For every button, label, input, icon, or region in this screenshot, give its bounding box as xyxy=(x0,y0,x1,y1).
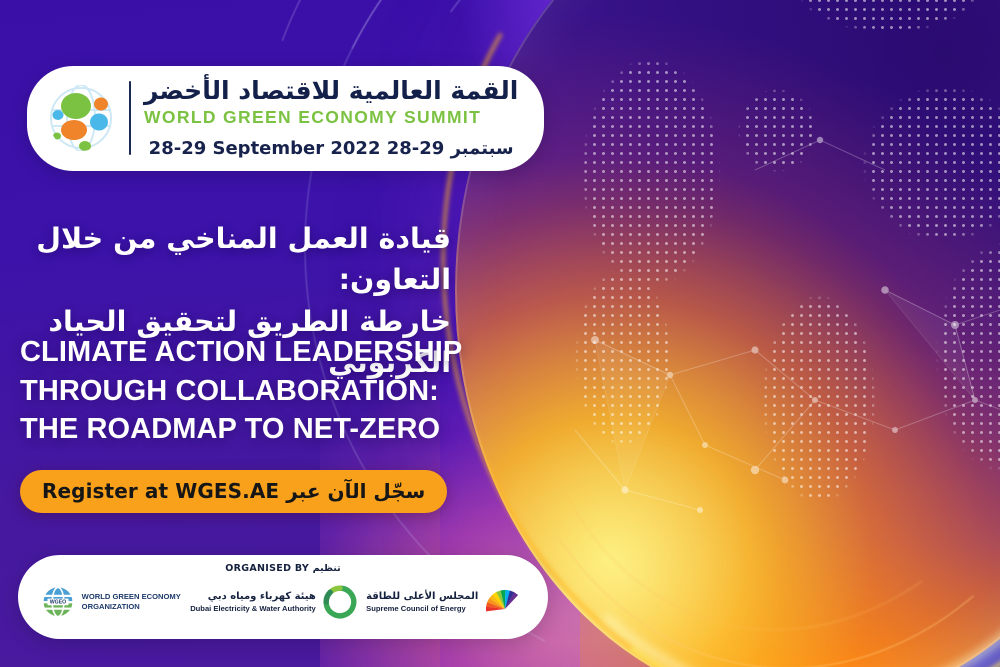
sce-fan-icon xyxy=(485,585,525,619)
logo-text-group: القمة العالمية للاقتصاد الأخضر WORLD GRE… xyxy=(144,77,518,159)
event-logo-badge[interactable]: القمة العالمية للاقتصاد الأخضر WORLD GRE… xyxy=(27,66,544,171)
sponsor-dewa[interactable]: هيئة كهرباء ومياه دبي Dubai Electricity … xyxy=(190,585,357,619)
svg-text:WGEO: WGEO xyxy=(49,600,65,606)
dewa-name-arabic: هيئة كهرباء ومياه دبي xyxy=(190,591,316,604)
headline-english-line-3: THE ROADMAP TO NET-ZERO xyxy=(20,410,490,449)
wgeo-text: WORLD GREEN ECONOMY ORGANIZATION xyxy=(82,592,181,612)
register-button[interactable]: Register at WGES.AE سجّل الآن عبر xyxy=(20,470,447,513)
sce-name-arabic: المجلس الأعلى للطاقة xyxy=(366,591,478,604)
wgeo-name-line-2: ORGANIZATION xyxy=(82,602,181,612)
wgeo-name-line-1: WORLD GREEN ECONOMY xyxy=(82,592,181,602)
logo-divider xyxy=(129,81,131,155)
sponsor-wgeo[interactable]: WGEO WORLD GREEN ECONOMY ORGANIZATION xyxy=(41,585,181,619)
organisers-footer-bar: ORGANISED BY تنظيم WGEO WORLD GREEN ECO xyxy=(18,555,548,639)
headline-arabic-line-1: قيادة العمل المناخي من خلال التعاون: xyxy=(0,218,451,301)
sce-name-english: Supreme Council of Energy xyxy=(366,604,478,613)
headline-english-line-1: CLIMATE ACTION LEADERSHIP xyxy=(20,333,490,372)
wgeo-globe-icon: WGEO xyxy=(41,585,75,619)
organised-by-label: ORGANISED BY تنظيم xyxy=(225,563,340,574)
wges-promo-poster: القمة العالمية للاقتصاد الأخضر WORLD GRE… xyxy=(0,0,1000,667)
dewa-name-english: Dubai Electricity & Water Authority xyxy=(190,604,316,613)
dewa-ring-icon xyxy=(323,585,357,619)
logo-title-english: WORLD GREEN ECONOMY SUMMIT xyxy=(144,107,518,129)
wges-sphere-icon xyxy=(43,80,119,156)
event-date: 28-29 September 2022 سبتمبر 29-28 xyxy=(144,138,518,159)
logo-title-arabic: القمة العالمية للاقتصاد الأخضر xyxy=(144,77,518,106)
dewa-text: هيئة كهرباء ومياه دبي Dubai Electricity … xyxy=(190,591,316,613)
sce-text: المجلس الأعلى للطاقة Supreme Council of … xyxy=(366,591,478,613)
headline-english: CLIMATE ACTION LEADERSHIP THROUGH COLLAB… xyxy=(20,333,490,449)
sponsor-supreme-council-of-energy[interactable]: المجلس الأعلى للطاقة Supreme Council of … xyxy=(366,585,525,619)
headline-english-line-2: THROUGH COLLABORATION: xyxy=(20,372,490,411)
